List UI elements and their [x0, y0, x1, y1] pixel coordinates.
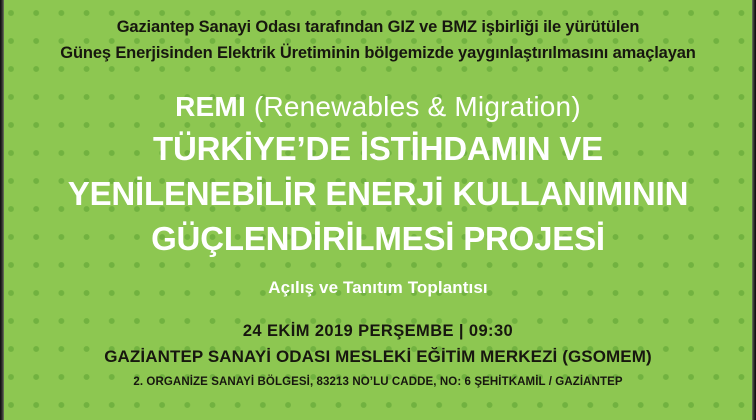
event-venue: GAZİANTEP SANAYİ ODASI MESLEKİ EĞİTİM ME…: [10, 346, 746, 368]
event-subtitle: Açılış ve Tanıtım Toplantısı: [10, 277, 746, 299]
left-edge-strip: [0, 0, 4, 420]
project-acronym: REMI: [175, 91, 246, 122]
poster-content: Gaziantep Sanayi Odası tarafından GIZ ve…: [0, 0, 756, 420]
project-title-line-3: GÜÇLENDİRİLMESİ PROJESİ: [10, 219, 746, 258]
project-title-line-2: YENİLENEBİLİR ENERJİ KULLANIMININ: [10, 174, 746, 213]
project-title-line-1: TÜRKİYE’DE İSTİHDAMIN VE: [10, 129, 746, 168]
intro-line-2: Güneş Enerjisinden Elektrik Üretiminin b…: [10, 37, 746, 63]
right-edge-strip: [752, 0, 756, 420]
event-date-time: 24 EKİM 2019 PERŞEMBE | 09:30: [10, 320, 746, 342]
event-poster: Gaziantep Sanayi Odası tarafından GIZ ve…: [0, 0, 756, 420]
project-acronym-line: REMI (Renewables & Migration): [10, 91, 746, 123]
event-address: 2. ORGANİZE SANAYİ BÖLGESİ, 83213 NO’LU …: [10, 374, 746, 390]
event-details: 24 EKİM 2019 PERŞEMBE | 09:30 GAZİANTEP …: [10, 320, 746, 390]
intro-line-1: Gaziantep Sanayi Odası tarafından GIZ ve…: [10, 0, 746, 37]
project-acronym-expansion: (Renewables & Migration): [246, 91, 581, 122]
